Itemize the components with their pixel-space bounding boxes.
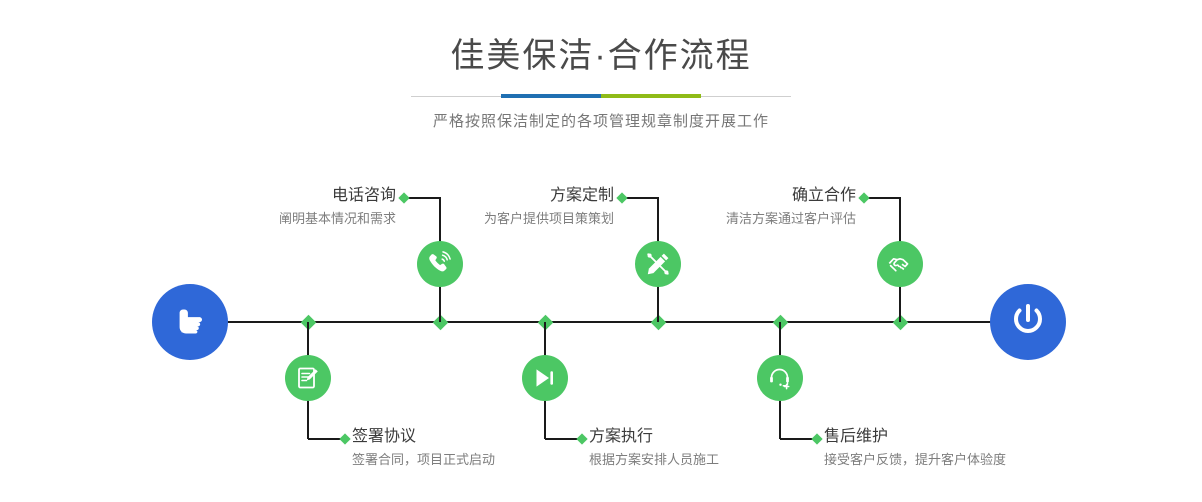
pencil-ruler-icon — [645, 251, 671, 277]
step-label-plan-customize: 方案定制 为客户提供项目策策划 — [372, 185, 614, 229]
step-desc: 接受客户反馈，提升客户体验度 — [824, 450, 1006, 470]
step-title: 方案执行 — [589, 426, 719, 448]
title-divider — [411, 94, 791, 98]
step-title: 方案定制 — [372, 185, 614, 207]
step-title: 确立合作 — [614, 185, 856, 207]
step-label-after-sales: 售后维护 接受客户反馈，提升客户体验度 — [824, 426, 1006, 470]
step-icon-plan-customize[interactable] — [635, 241, 681, 287]
page-title: 佳美保洁·合作流程 — [0, 34, 1202, 78]
label-marker — [339, 433, 350, 444]
power-icon — [1007, 299, 1049, 346]
step-title: 电话咨询 — [154, 185, 396, 207]
step-desc: 签署合同，项目正式启动 — [352, 450, 495, 470]
step-title: 签署协议 — [352, 426, 495, 448]
step-title: 售后维护 — [824, 426, 1006, 448]
step-icon-establish-cooperation[interactable] — [877, 241, 923, 287]
step-desc: 清洁方案通过客户评估 — [614, 209, 856, 229]
handshake-icon — [887, 251, 913, 277]
phone-call-icon — [427, 251, 453, 277]
flow-diagram-canvas: 佳美保洁·合作流程 严格按照保洁制定的各项管理规章制度开展工作 — [0, 0, 1202, 502]
sign-document-icon — [295, 365, 321, 391]
step-desc: 阐明基本情况和需求 — [154, 209, 396, 229]
step-label-establish-cooperation: 确立合作 清洁方案通过客户评估 — [614, 185, 856, 229]
divider-blue-segment — [501, 94, 601, 98]
customer-service-add-icon — [767, 365, 793, 391]
label-marker — [811, 433, 822, 444]
step-label-phone-consult: 电话咨询 阐明基本情况和需求 — [154, 185, 396, 229]
divider-green-segment — [601, 94, 701, 98]
label-marker — [576, 433, 587, 444]
step-desc: 为客户提供项目策策划 — [372, 209, 614, 229]
header: 佳美保洁·合作流程 严格按照保洁制定的各项管理规章制度开展工作 — [0, 34, 1202, 131]
step-icon-plan-execute[interactable] — [522, 355, 568, 401]
step-icon-sign-agreement[interactable] — [285, 355, 331, 401]
step-icon-phone-consult[interactable] — [417, 241, 463, 287]
timeline-end-node[interactable] — [990, 284, 1066, 360]
play-execute-icon — [532, 365, 558, 391]
label-marker — [858, 192, 869, 203]
pointing-hand-icon — [170, 300, 210, 345]
step-label-sign-agreement: 签署协议 签署合同，项目正式启动 — [352, 426, 495, 470]
page-subtitle: 严格按照保洁制定的各项管理规章制度开展工作 — [0, 110, 1202, 131]
step-desc: 根据方案安排人员施工 — [589, 450, 719, 470]
step-icon-after-sales[interactable] — [757, 355, 803, 401]
timeline-start-node[interactable] — [152, 284, 228, 360]
step-label-plan-execute: 方案执行 根据方案安排人员施工 — [589, 426, 719, 470]
